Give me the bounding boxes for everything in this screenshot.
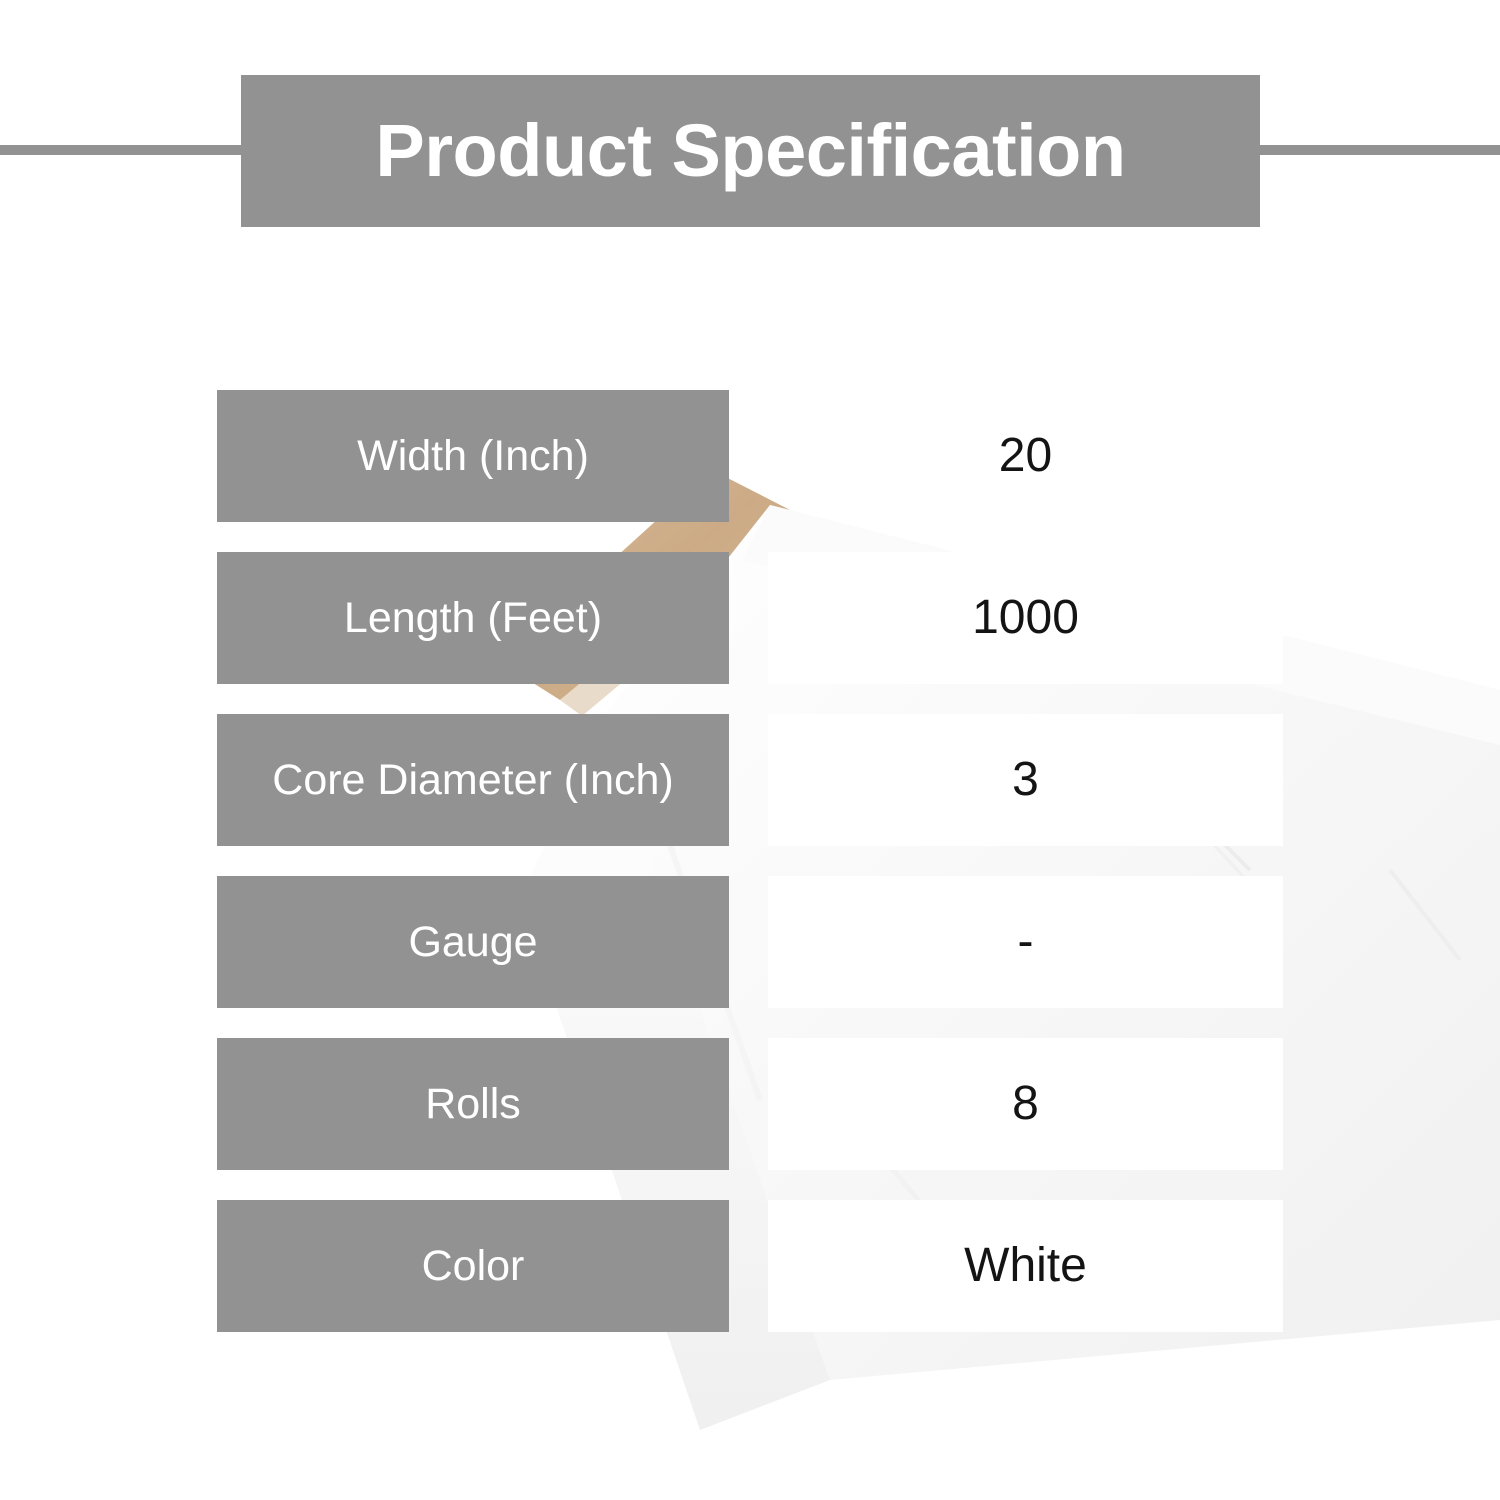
table-row: Core Diameter (Inch) 3 — [0, 714, 1500, 846]
table-row: Color White — [0, 1200, 1500, 1332]
spec-value-rolls: 8 — [768, 1038, 1283, 1170]
spec-value-length: 1000 — [768, 552, 1283, 684]
page-title: Product Specification — [375, 114, 1125, 188]
table-row: Length (Feet) 1000 — [0, 552, 1500, 684]
header-rule-left — [0, 145, 241, 155]
table-row: Gauge - — [0, 876, 1500, 1008]
spec-value-gauge: - — [768, 876, 1283, 1008]
spec-value-core-diameter: 3 — [768, 714, 1283, 846]
title-banner: Product Specification — [241, 75, 1260, 227]
table-row: Width (Inch) 20 — [0, 390, 1500, 522]
spec-label-width: Width (Inch) — [217, 390, 729, 522]
spec-label-core-diameter: Core Diameter (Inch) — [217, 714, 729, 846]
spec-label-length: Length (Feet) — [217, 552, 729, 684]
spec-label-gauge: Gauge — [217, 876, 729, 1008]
header-rule-right — [1260, 145, 1500, 155]
spec-value-color: White — [768, 1200, 1283, 1332]
spec-value-width: 20 — [768, 390, 1283, 522]
spec-label-color: Color — [217, 1200, 729, 1332]
page-header: Product Specification — [0, 0, 1500, 300]
specification-table: Width (Inch) 20 Length (Feet) 1000 Core … — [0, 390, 1500, 1362]
spec-label-rolls: Rolls — [217, 1038, 729, 1170]
table-row: Rolls 8 — [0, 1038, 1500, 1170]
